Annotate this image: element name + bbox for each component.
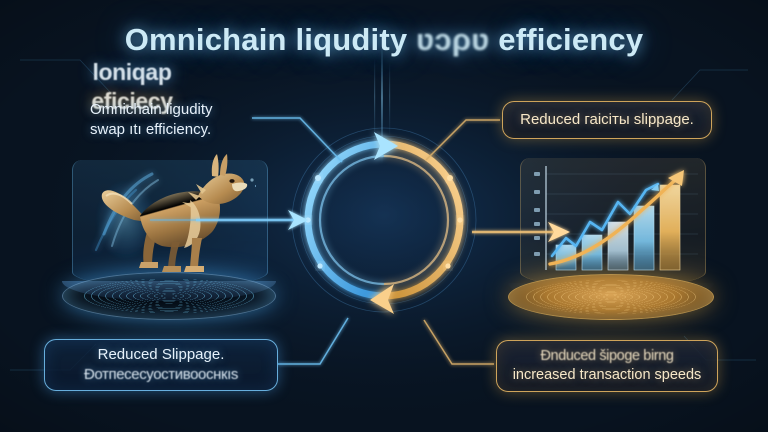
title-part-2: efficiency (498, 22, 643, 57)
callout-top-left[interactable]: Omnichain ligudity swap ıtı efficiency. (60, 92, 276, 148)
callout-bottom-right-line1: Đnduced šipoge birng (540, 347, 673, 366)
callout-bottom-right[interactable]: Đnduced šipoge birng increased transacti… (496, 340, 718, 392)
title-part-1: Omnichain liqudity (125, 22, 408, 57)
central-ring-graphic (252, 120, 516, 320)
callout-bottom-right-line2: increased transaction speeds (513, 366, 702, 385)
connector-bottom-right (424, 320, 494, 364)
callout-top-left-line1: Omnichain ligudity (90, 100, 213, 120)
creature-eye (229, 179, 234, 183)
creature-ear-left (212, 154, 219, 177)
callout-top-right[interactable]: Reduced гаісіты slippage. (502, 101, 712, 139)
callout-bottom-left[interactable]: Reduced Slippage. Đотпесесуостивооснкıs (44, 339, 278, 391)
title-garbled-word: ʋɔρʋ (416, 22, 489, 57)
page-title: Omnichain liqudity ʋɔρʋ efficiency (0, 22, 768, 58)
callout-bottom-left-line2: Đотпесесуостивооснкıs (84, 365, 238, 385)
creature-ear-right (220, 154, 227, 176)
callout-bottom-left-line1: Reduced Slippage. (98, 345, 225, 365)
chart-bar (660, 185, 680, 270)
infographic-canvas: Omnichain liqudity ʋɔρʋ efficiency (0, 0, 768, 432)
chart-ytick-glyphs (534, 172, 540, 256)
growth-chart (522, 160, 702, 288)
connector-bottom-left (278, 318, 348, 364)
callout-top-left-line2: swap ıtı efficiency. (90, 120, 211, 140)
callout-top-right-line1: Reduced гаісіты slippage. (520, 110, 694, 130)
center-label-line1: loniqap (93, 59, 172, 85)
wolf-creature-illustration (86, 150, 256, 290)
